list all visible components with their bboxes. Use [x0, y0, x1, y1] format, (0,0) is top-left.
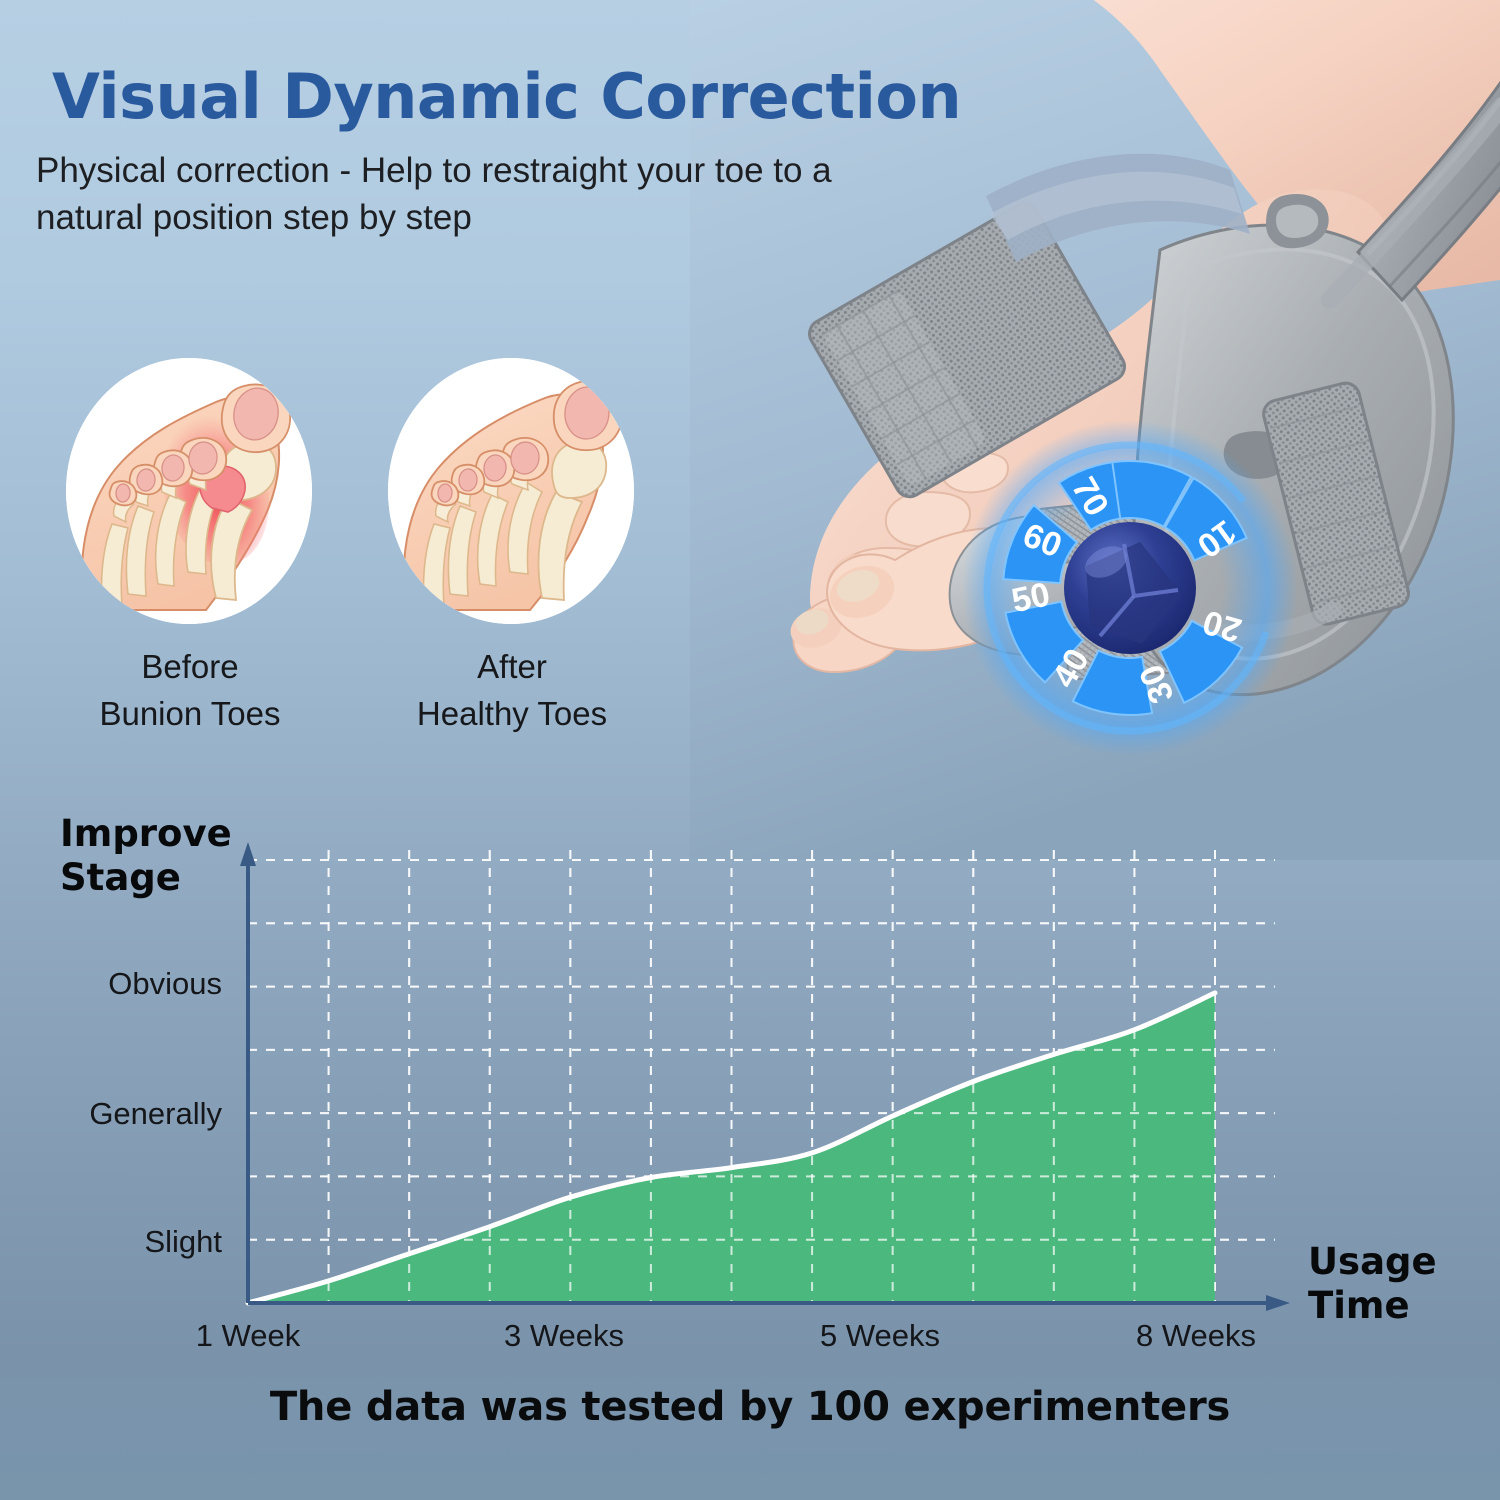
x-axis-title-line1: Usage — [1308, 1240, 1488, 1284]
x-tick-8-weeks: 8 Weeks — [1081, 1318, 1311, 1354]
chart-area-fill — [248, 993, 1215, 1303]
before-caption-line2: Bunion Toes — [60, 691, 320, 738]
x-tick-5-weeks: 5 Weeks — [765, 1318, 995, 1354]
y-tick-obvious: Obvious — [40, 966, 222, 1002]
x-axis-title: Usage Time — [1308, 1240, 1488, 1327]
after-caption: After Healthy Toes — [382, 644, 642, 738]
after-caption-line2: Healthy Toes — [382, 691, 642, 738]
y-tick-slight: Slight — [40, 1224, 222, 1260]
before-caption: Before Bunion Toes — [60, 644, 320, 738]
before-caption-line1: Before — [60, 644, 320, 691]
y-axis-title-line1: Improve — [60, 812, 270, 856]
infographic-canvas: 10 20 30 40 50 60 70 Visual Dynamic Corr… — [0, 0, 1500, 1500]
y-tick-generally: Generally — [40, 1096, 222, 1132]
before-foot-illustration — [66, 358, 312, 624]
y-axis-title: Improve Stage — [60, 812, 270, 899]
x-axis-title-line2: Time — [1308, 1284, 1488, 1328]
dial-segment-50: 50 — [1008, 575, 1053, 620]
page-subtitle: Physical correction - Help to restraight… — [36, 148, 936, 241]
after-foot-illustration — [388, 358, 634, 624]
x-tick-3-weeks: 3 Weeks — [449, 1318, 679, 1354]
x-tick-1-week: 1 Week — [133, 1318, 363, 1354]
after-caption-line1: After — [382, 644, 642, 691]
footer-note: The data was tested by 100 experimenters — [0, 1384, 1500, 1430]
page-title: Visual Dynamic Correction — [52, 60, 961, 133]
y-axis-title-line2: Stage — [60, 856, 270, 900]
